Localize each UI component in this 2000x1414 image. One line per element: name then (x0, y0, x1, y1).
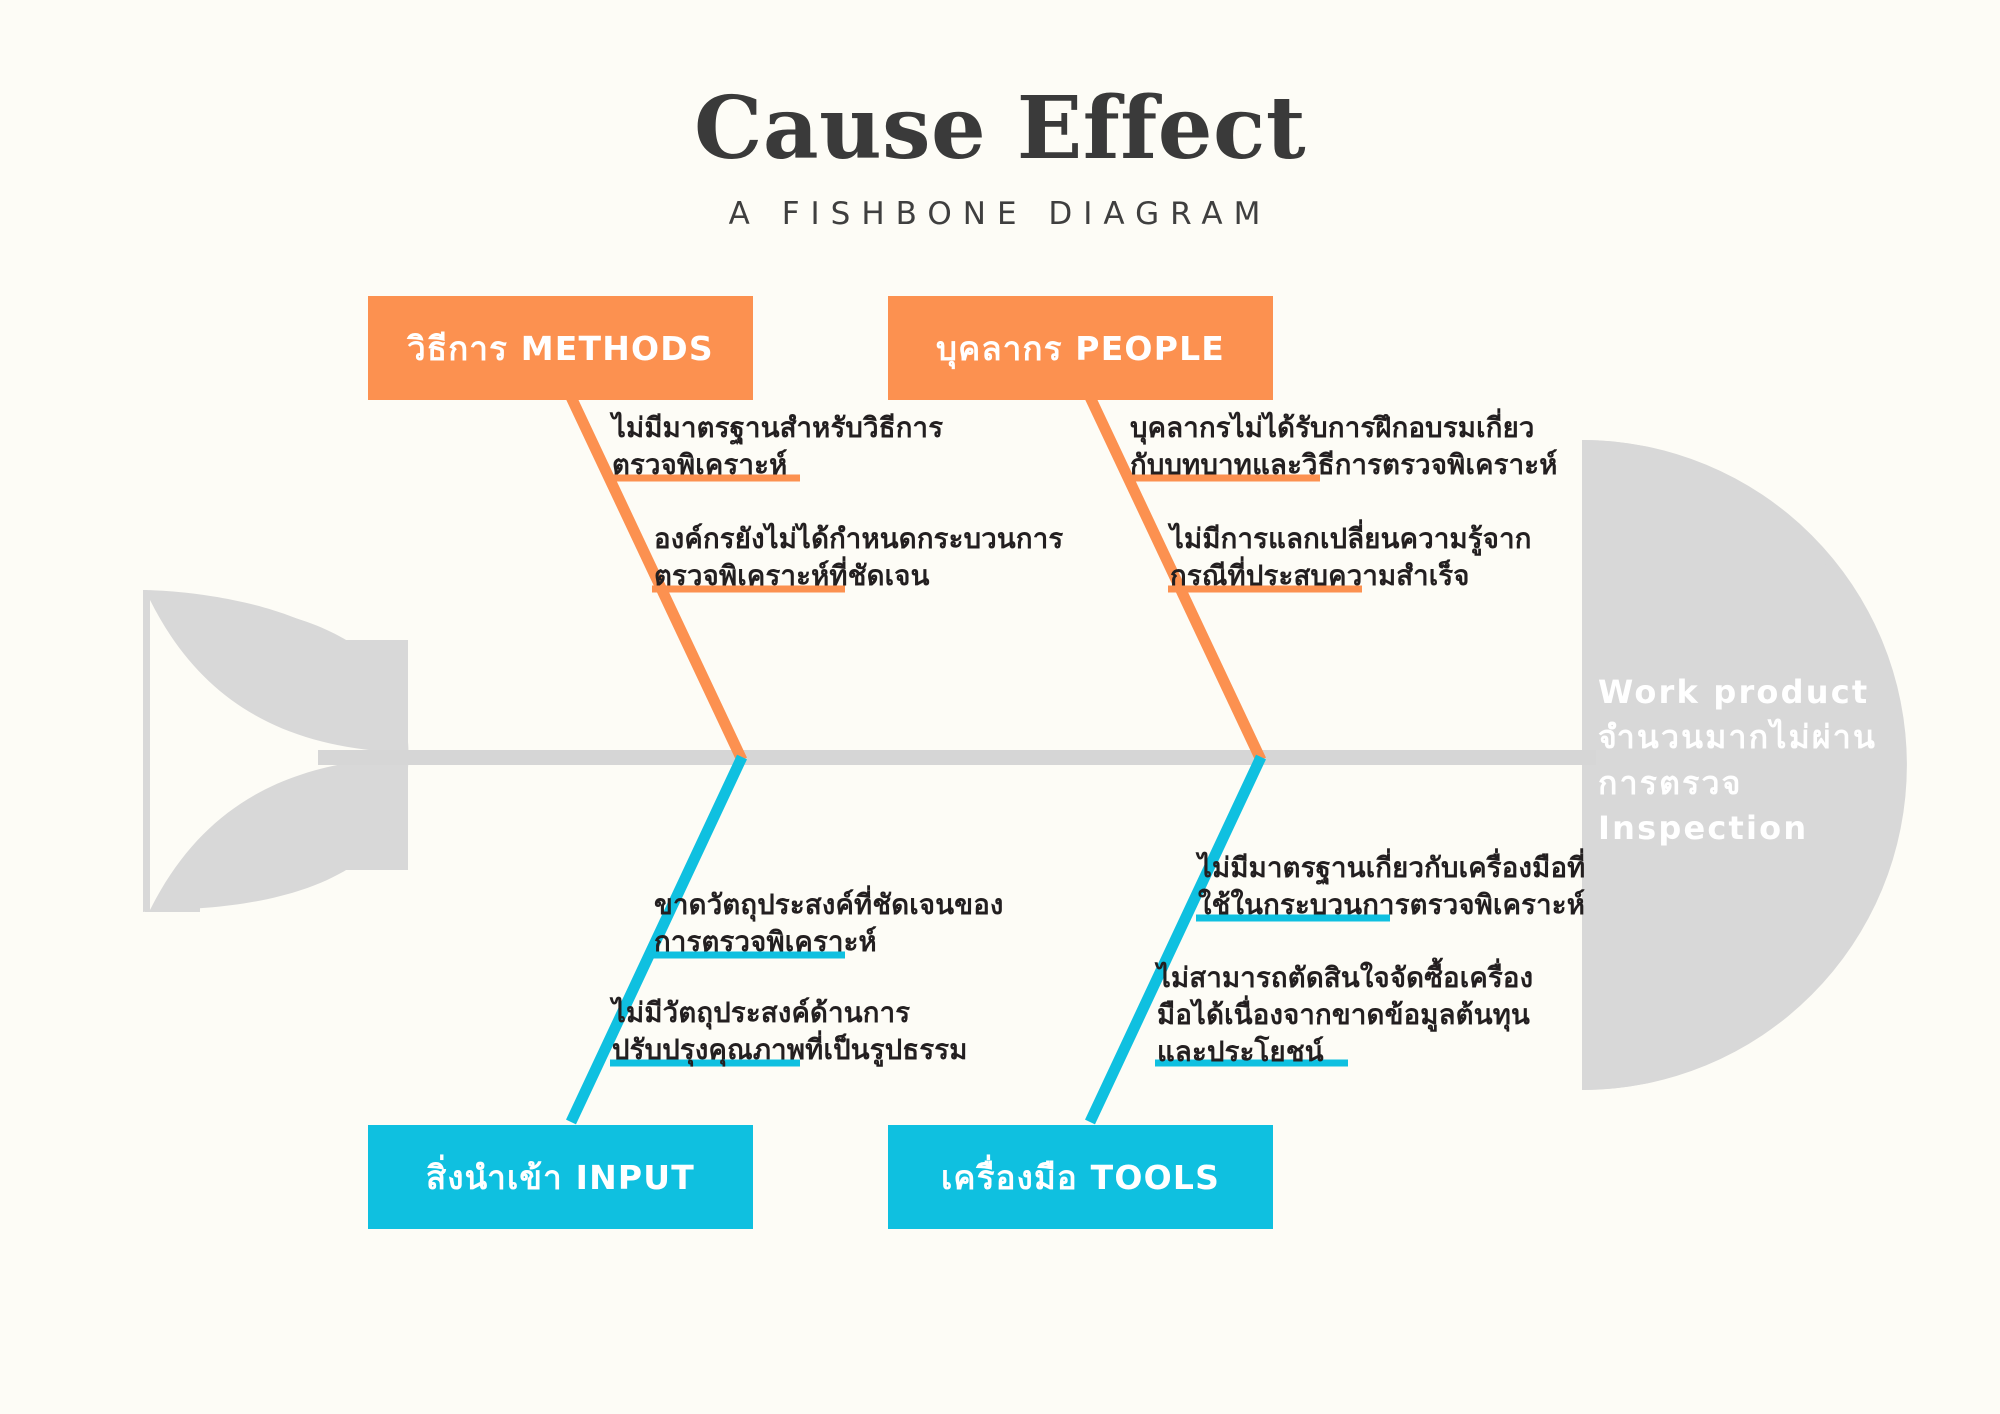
category-box-input[interactable]: สิ่งนำเข้า INPUT (368, 1125, 753, 1229)
fishbone-diagram-canvas: Cause Effect A FISHBONE DIAGRAM (0, 0, 2000, 1414)
category-label-input: สิ่งนำเข้า INPUT (426, 1151, 695, 1204)
cause-people-2: ไม่มีการแลกเปลี่ยนความรู้จาก กรณีที่ประส… (1170, 521, 1532, 595)
category-box-people[interactable]: บุคลากร PEOPLE (888, 296, 1273, 400)
category-label-tools: เครื่องมือ TOOLS (941, 1151, 1220, 1204)
category-label-people: บุคลากร PEOPLE (936, 322, 1225, 375)
spine-line (318, 750, 1596, 765)
effect-label: Work product จำนวนมากไม่ผ่าน การตรวจ Ins… (1598, 670, 1888, 852)
category-label-methods: วิธีการ METHODS (407, 322, 714, 375)
cause-methods-1: ไม่มีมาตรฐานสำหรับวิธีการ ตรวจพิเคราะห์ (612, 410, 943, 484)
category-box-methods[interactable]: วิธีการ METHODS (368, 296, 753, 400)
cause-tools-2: ไม่สามารถตัดสินใจจัดซื้อเครื่อง มือได้เน… (1157, 960, 1533, 1071)
cause-input-1: ขาดวัตถุประสงค์ที่ชัดเจนของ การตรวจพิเคร… (654, 887, 1004, 961)
cause-people-1: บุคลากรไม่ได้รับการฝึกอบรมเกี่ยว กับบทบา… (1130, 410, 1558, 484)
cause-tools-1: ไม่มีมาตรฐานเกี่ยวกับเครื่องมือที่ ใช้ใน… (1198, 850, 1586, 924)
cause-methods-2: องค์กรยังไม่ได้กำหนดกระบวนการ ตรวจพิเครา… (654, 521, 1063, 595)
cause-input-2: ไม่มีวัตถุประสงค์ด้านการ ปรับปรุงคุณภาพท… (612, 995, 968, 1069)
category-box-tools[interactable]: เครื่องมือ TOOLS (888, 1125, 1273, 1229)
